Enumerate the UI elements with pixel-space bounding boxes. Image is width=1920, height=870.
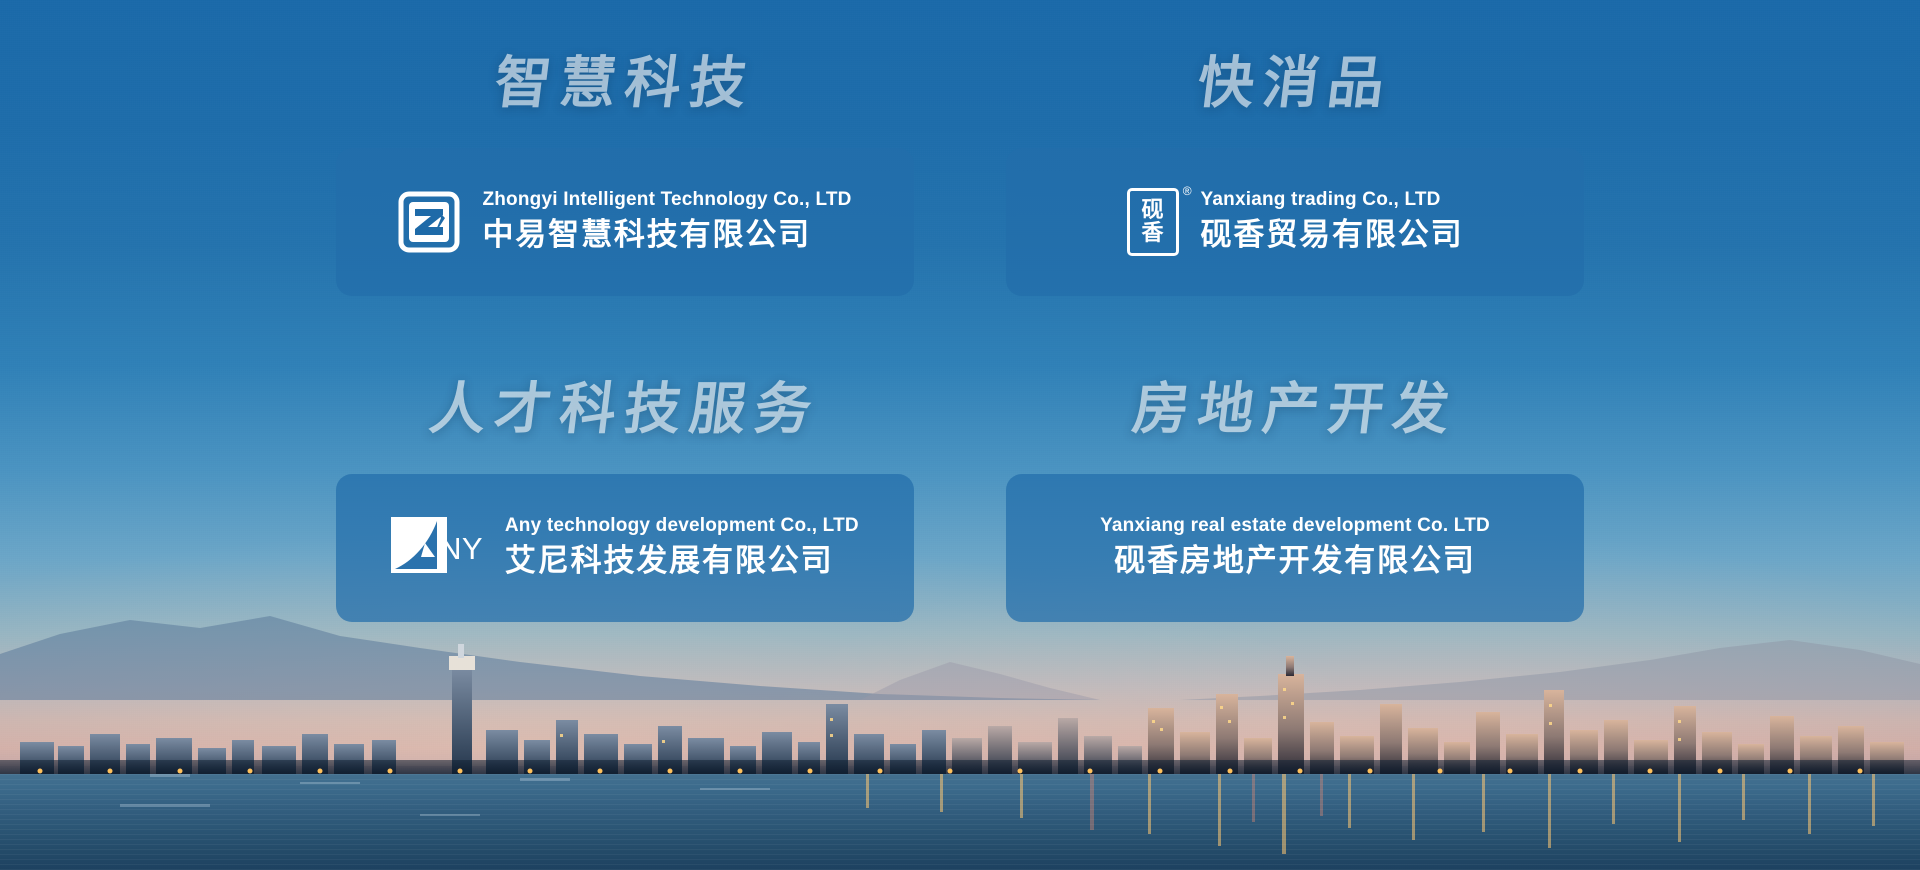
zhongyi-z-logo	[398, 191, 460, 253]
company-name-cn: 砚香贸易有限公司	[1201, 216, 1464, 255]
segments-grid: 智慧科技 Zhongyi Intelligent Technology Co.,…	[0, 0, 1920, 870]
any-mountain-logo: NY	[391, 517, 483, 579]
company-name-en: Any technology development Co., LTD	[505, 515, 859, 538]
page-root: 智慧科技 Zhongyi Intelligent Technology Co.,…	[0, 0, 1920, 870]
segment-real-estate-development: 房地产开发 Yanxiang real estate development C…	[960, 382, 1630, 720]
company-card-yanxiang-real-estate[interactable]: Yanxiang real estate development Co. LTD…	[1006, 474, 1584, 622]
segment-smart-technology: 智慧科技 Zhongyi Intelligent Technology Co.,…	[290, 56, 960, 388]
seal-frame: 砚 香	[1127, 188, 1179, 256]
segment-heading-smart-technology: 智慧科技	[492, 56, 759, 112]
company-card-yanxiang-trading[interactable]: 砚 香 ® Yanxiang trading Co., LTD 砚香贸易有限公司	[1006, 148, 1584, 296]
segment-heading-real-estate-development: 房地产开发	[1129, 382, 1461, 438]
company-name-cn: 艾尼科技发展有限公司	[505, 542, 859, 581]
segment-fast-moving-consumer-goods: 快消品 砚 香 ® Yanxiang trading Co., LTD 砚香贸易…	[960, 56, 1630, 388]
company-name-en: Yanxiang real estate development Co. LTD	[1100, 515, 1490, 538]
yanxiang-seal-logo: 砚 香 ®	[1127, 188, 1179, 256]
company-name-en: Zhongyi Intelligent Technology Co., LTD	[482, 189, 851, 212]
company-text-any: Any technology development Co., LTD 艾尼科技…	[505, 515, 859, 581]
company-text-zhongyi: Zhongyi Intelligent Technology Co., LTD …	[482, 189, 851, 255]
company-card-any[interactable]: NY Any technology development Co., LTD 艾…	[336, 474, 914, 622]
registered-mark-icon: ®	[1183, 185, 1192, 197]
company-name-en: Yanxiang trading Co., LTD	[1201, 189, 1464, 212]
seal-char-top: 砚	[1142, 200, 1164, 222]
segment-heading-fast-moving-consumer-goods: 快消品	[1194, 56, 1396, 112]
segment-talent-technology-services: 人才科技服务 NY Any technology development Co.…	[290, 382, 960, 720]
company-card-zhongyi[interactable]: Zhongyi Intelligent Technology Co., LTD …	[336, 148, 914, 296]
any-logo-text: NY	[439, 533, 483, 564]
company-text-yanxiang-real-estate: Yanxiang real estate development Co. LTD…	[1100, 515, 1490, 581]
company-name-cn: 中易智慧科技有限公司	[482, 216, 851, 255]
segment-heading-talent-technology-services: 人才科技服务	[427, 382, 824, 438]
seal-char-bottom: 香	[1142, 223, 1164, 245]
company-text-yanxiang-trading: Yanxiang trading Co., LTD 砚香贸易有限公司	[1201, 189, 1464, 255]
company-name-cn: 砚香房地产开发有限公司	[1114, 542, 1475, 581]
